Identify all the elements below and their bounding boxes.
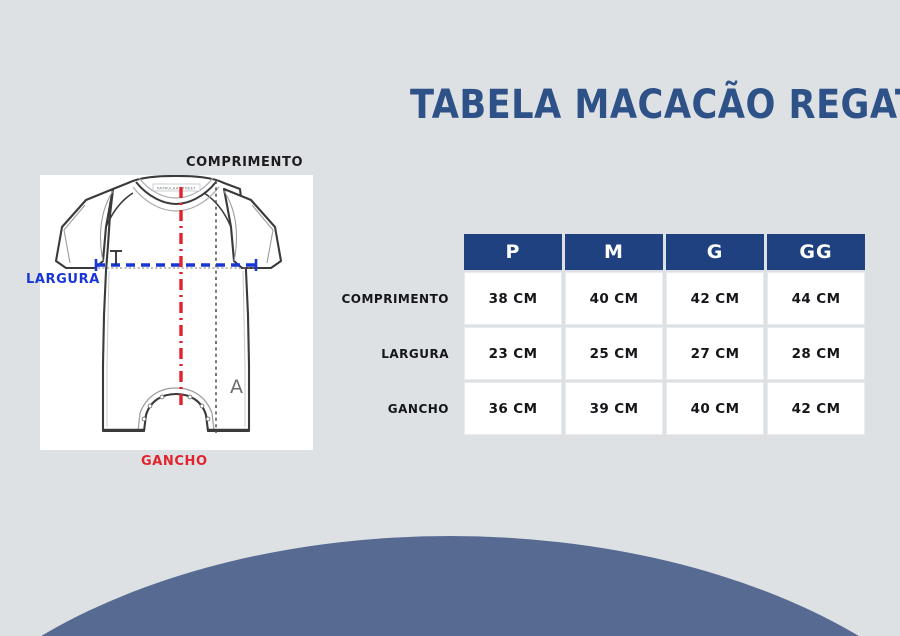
comprimento-label: COMPRIMENTO bbox=[186, 155, 303, 170]
table-header-row: P M G GG bbox=[325, 234, 865, 270]
size-table: P M G GG COMPRIMENTO 38 CM 40 CM 42 CM 4… bbox=[322, 232, 868, 437]
table-header-p[interactable]: P bbox=[464, 234, 562, 270]
table-row: GANCHO 36 CM 39 CM 40 CM 42 CM bbox=[325, 382, 865, 435]
cell-comprimento-m: 40 CM bbox=[565, 272, 663, 325]
cell-comprimento-gg: 44 CM bbox=[767, 272, 865, 325]
cell-comprimento-g: 42 CM bbox=[666, 272, 764, 325]
cell-gancho-m: 39 CM bbox=[565, 382, 663, 435]
decorative-wave bbox=[0, 536, 900, 636]
cell-largura-p: 23 CM bbox=[464, 327, 562, 380]
neck-label-text: PATRULHA STREET bbox=[157, 187, 196, 191]
table-header-g[interactable]: G bbox=[666, 234, 764, 270]
page-title: TABELA MACACÃO REGATA bbox=[410, 82, 850, 128]
row-label-comprimento: COMPRIMENTO bbox=[325, 272, 461, 325]
table-header-m[interactable]: M bbox=[565, 234, 663, 270]
cell-gancho-p: 36 CM bbox=[464, 382, 562, 435]
row-label-largura: LARGURA bbox=[325, 327, 461, 380]
size-chart-canvas: TABELA MACACÃO REGATA bbox=[0, 0, 900, 636]
neck-brand-label: PATRULHA STREET bbox=[153, 184, 200, 191]
largura-label: LARGURA bbox=[26, 272, 100, 287]
cell-comprimento-p: 38 CM bbox=[464, 272, 562, 325]
table-header-gg[interactable]: GG bbox=[767, 234, 865, 270]
cell-largura-g: 27 CM bbox=[666, 327, 764, 380]
gancho-label: GANCHO bbox=[141, 454, 208, 469]
cell-largura-m: 25 CM bbox=[565, 327, 663, 380]
table-row: COMPRIMENTO 38 CM 40 CM 42 CM 44 CM bbox=[325, 272, 865, 325]
cell-gancho-gg: 42 CM bbox=[767, 382, 865, 435]
row-label-gancho: GANCHO bbox=[325, 382, 461, 435]
size-table-wrapper: P M G GG COMPRIMENTO 38 CM 40 CM 42 CM 4… bbox=[322, 232, 868, 437]
table-row: LARGURA 23 CM 25 CM 27 CM 28 CM bbox=[325, 327, 865, 380]
length-marker-a: A bbox=[230, 376, 243, 398]
cell-largura-gg: 28 CM bbox=[767, 327, 865, 380]
table-corner-cell bbox=[325, 234, 461, 270]
garment-illustration: PATRULHA STREET bbox=[40, 175, 313, 450]
cell-gancho-g: 40 CM bbox=[666, 382, 764, 435]
